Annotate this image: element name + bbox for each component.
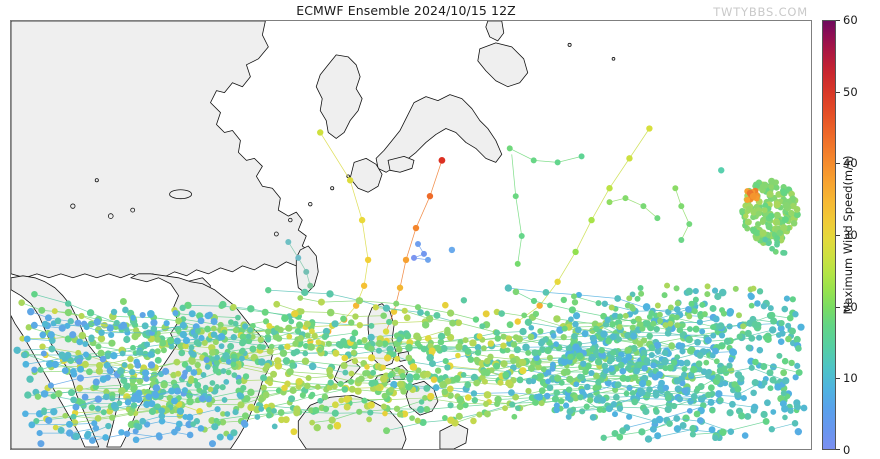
track-point bbox=[754, 230, 761, 237]
track-point bbox=[531, 298, 537, 304]
track-point bbox=[35, 393, 41, 399]
track-point bbox=[388, 387, 394, 393]
track-point bbox=[317, 347, 323, 353]
track-point bbox=[265, 287, 271, 293]
track-point bbox=[471, 390, 477, 396]
map-axes bbox=[10, 20, 812, 450]
track-point bbox=[657, 312, 663, 318]
track-point bbox=[329, 417, 336, 424]
track-point bbox=[231, 372, 237, 378]
track-point bbox=[769, 246, 775, 252]
track-point bbox=[182, 387, 188, 393]
track-point bbox=[690, 366, 697, 373]
track-point bbox=[415, 418, 421, 424]
track-point bbox=[576, 352, 583, 359]
track-point bbox=[568, 316, 574, 322]
track-markers bbox=[383, 157, 445, 335]
track-point bbox=[22, 410, 29, 417]
track-point bbox=[204, 326, 211, 333]
track-point bbox=[301, 289, 308, 296]
track-point bbox=[159, 413, 166, 420]
track-point bbox=[584, 384, 591, 391]
track-point bbox=[663, 385, 669, 391]
track-point bbox=[427, 393, 434, 400]
track-point bbox=[198, 317, 205, 324]
track-point bbox=[127, 356, 134, 363]
track-point bbox=[209, 440, 216, 447]
track-point bbox=[465, 394, 472, 401]
track-point bbox=[610, 350, 616, 356]
track-point bbox=[674, 285, 680, 291]
track-point bbox=[100, 376, 107, 383]
track-point bbox=[693, 288, 699, 294]
track-point bbox=[665, 406, 672, 413]
track-point bbox=[739, 208, 745, 214]
track-point bbox=[201, 372, 207, 378]
track-point bbox=[442, 302, 449, 309]
track-point bbox=[53, 425, 59, 431]
track-point bbox=[675, 300, 681, 306]
track-point bbox=[233, 327, 239, 333]
track-point bbox=[433, 385, 439, 391]
track-point bbox=[665, 394, 672, 401]
track-point bbox=[247, 404, 255, 412]
track-point bbox=[763, 418, 770, 425]
track-point bbox=[500, 342, 506, 348]
track-point bbox=[457, 403, 464, 410]
track-point bbox=[148, 400, 155, 407]
track-point bbox=[567, 408, 574, 415]
track-point bbox=[442, 415, 448, 421]
track-point bbox=[682, 366, 688, 372]
track-point bbox=[693, 297, 699, 303]
track-point bbox=[795, 404, 801, 410]
track-point bbox=[247, 305, 254, 312]
track-point bbox=[410, 363, 418, 371]
track-point bbox=[327, 309, 335, 317]
track-point bbox=[293, 409, 300, 416]
track-point bbox=[180, 331, 187, 338]
track-point bbox=[737, 333, 743, 339]
track-point bbox=[789, 328, 796, 335]
track-point bbox=[709, 426, 716, 433]
track-point bbox=[614, 295, 621, 302]
track-point bbox=[649, 345, 656, 352]
track-point bbox=[120, 298, 127, 305]
track-point bbox=[766, 240, 772, 246]
track-point bbox=[774, 212, 781, 219]
track-point bbox=[801, 405, 808, 412]
track-point bbox=[265, 328, 271, 334]
track-point bbox=[392, 320, 398, 326]
track-point bbox=[770, 376, 777, 383]
track-point bbox=[291, 428, 298, 435]
track-point bbox=[111, 309, 117, 315]
track-point bbox=[375, 385, 381, 391]
track-point bbox=[770, 409, 776, 415]
track-point bbox=[689, 425, 696, 432]
track-point bbox=[65, 300, 71, 306]
track-point bbox=[588, 370, 594, 376]
track-point bbox=[685, 288, 693, 296]
track-point bbox=[453, 375, 460, 382]
track-point bbox=[222, 352, 229, 359]
track-point bbox=[62, 413, 68, 419]
track-point bbox=[118, 429, 124, 435]
colorbar-axis-label: Maximum Wind Speed(m/s) bbox=[841, 156, 855, 315]
track-point bbox=[367, 409, 373, 415]
track-point bbox=[307, 343, 315, 351]
chart-figure: ECMWF Ensemble 2024/10/15 12Z TWTYBBS.CO… bbox=[0, 0, 880, 459]
track-point bbox=[317, 398, 323, 404]
track-point bbox=[133, 436, 140, 443]
track-point bbox=[380, 375, 387, 382]
track-point bbox=[68, 318, 74, 324]
track-point bbox=[662, 292, 668, 298]
small-island bbox=[170, 190, 192, 199]
track-point bbox=[604, 317, 611, 324]
track-point bbox=[572, 299, 578, 305]
track-point bbox=[232, 409, 238, 415]
track-point bbox=[673, 415, 680, 422]
track-point bbox=[315, 384, 321, 390]
track-point bbox=[505, 347, 511, 353]
track-point bbox=[309, 363, 317, 371]
track-point bbox=[150, 319, 157, 326]
track-point bbox=[528, 365, 535, 372]
track-point bbox=[776, 353, 782, 359]
track-point bbox=[602, 301, 608, 307]
track-point bbox=[563, 402, 569, 408]
track-point bbox=[539, 400, 545, 406]
colorbar-tick bbox=[836, 235, 840, 236]
track-point bbox=[94, 318, 101, 325]
track-point bbox=[449, 320, 456, 327]
colorbar-tick-label: 50 bbox=[843, 85, 858, 99]
track-point bbox=[767, 191, 774, 198]
track-point bbox=[749, 365, 755, 371]
track-point bbox=[382, 411, 388, 417]
track-point bbox=[650, 426, 657, 433]
track-point bbox=[286, 368, 293, 375]
track-point bbox=[306, 375, 312, 381]
track-point bbox=[595, 359, 602, 366]
track-point bbox=[210, 380, 216, 386]
track-point bbox=[687, 408, 693, 414]
track-point bbox=[48, 345, 55, 352]
track-point bbox=[109, 415, 115, 421]
track-point bbox=[125, 399, 132, 406]
colorbar-tick bbox=[836, 449, 840, 450]
track-point bbox=[87, 309, 94, 316]
track-point bbox=[350, 336, 356, 342]
track-point bbox=[664, 283, 670, 289]
track-point bbox=[151, 325, 158, 332]
track-point bbox=[552, 395, 559, 402]
track-point bbox=[129, 376, 137, 384]
colorbar-tick bbox=[836, 20, 840, 21]
track-point bbox=[519, 367, 526, 374]
track-point bbox=[754, 300, 761, 307]
track-point bbox=[388, 372, 394, 378]
track-point bbox=[88, 336, 94, 342]
track-point bbox=[228, 319, 234, 325]
track-point bbox=[637, 321, 643, 327]
track-point bbox=[516, 335, 523, 342]
track-point bbox=[705, 373, 711, 379]
track-point bbox=[447, 417, 454, 424]
track-point bbox=[483, 310, 490, 317]
track-point bbox=[577, 394, 583, 400]
track-point bbox=[750, 390, 757, 397]
track-point bbox=[782, 358, 789, 365]
track-point bbox=[186, 414, 193, 421]
track-point bbox=[511, 414, 517, 420]
track-point bbox=[617, 405, 623, 411]
track-point bbox=[465, 348, 472, 355]
track-point bbox=[235, 315, 241, 321]
track-point bbox=[666, 420, 673, 427]
track-point bbox=[468, 356, 475, 363]
track-point bbox=[211, 423, 218, 430]
track-point bbox=[356, 409, 362, 415]
track-point bbox=[332, 401, 339, 408]
track-point bbox=[611, 401, 617, 407]
track-point bbox=[314, 424, 321, 431]
track-point bbox=[721, 311, 727, 317]
track-point bbox=[286, 334, 292, 340]
track-point bbox=[368, 346, 374, 352]
track-point bbox=[240, 348, 246, 354]
track-point bbox=[674, 377, 681, 384]
track-point bbox=[101, 409, 107, 415]
track-point bbox=[646, 333, 653, 340]
track-point bbox=[161, 347, 167, 353]
track-point bbox=[650, 321, 656, 327]
track-point bbox=[769, 326, 776, 333]
track-point bbox=[218, 333, 225, 340]
track-point bbox=[226, 369, 232, 375]
track-point bbox=[545, 379, 551, 385]
track-point bbox=[736, 312, 742, 318]
track-point bbox=[39, 332, 46, 339]
track-point bbox=[571, 293, 577, 299]
track-point bbox=[519, 359, 526, 366]
track-point bbox=[762, 207, 768, 213]
track-line bbox=[510, 148, 582, 162]
track-point bbox=[424, 311, 430, 317]
track-point bbox=[130, 385, 137, 392]
track-point bbox=[615, 381, 622, 388]
track-point bbox=[653, 326, 659, 332]
track-point bbox=[793, 374, 799, 380]
track-point bbox=[50, 408, 57, 415]
track-point bbox=[680, 422, 687, 429]
track-point bbox=[368, 401, 375, 408]
track-point bbox=[525, 350, 531, 356]
track-point bbox=[355, 388, 362, 395]
track-point bbox=[644, 357, 651, 364]
track-point bbox=[641, 365, 648, 372]
track-point bbox=[82, 394, 89, 401]
track-point bbox=[219, 301, 226, 308]
track-point bbox=[364, 364, 370, 370]
track-point bbox=[66, 421, 73, 428]
track-point bbox=[730, 349, 737, 356]
track-point bbox=[48, 331, 55, 338]
track-point bbox=[748, 335, 755, 342]
track-point bbox=[756, 335, 762, 341]
track-point bbox=[662, 350, 668, 356]
track-point bbox=[704, 291, 710, 297]
track-point bbox=[413, 373, 420, 380]
track-point bbox=[608, 356, 615, 363]
track-point bbox=[285, 325, 292, 332]
track-point bbox=[209, 349, 216, 356]
track-point bbox=[294, 348, 300, 354]
track-point bbox=[122, 362, 128, 368]
track-point bbox=[784, 296, 790, 302]
track-point bbox=[83, 351, 89, 357]
track-point bbox=[590, 414, 597, 421]
track-point bbox=[376, 340, 383, 347]
track-line bbox=[512, 154, 522, 263]
track-point bbox=[692, 308, 698, 314]
track-point bbox=[624, 347, 631, 354]
track-point bbox=[66, 429, 73, 436]
track-point bbox=[291, 310, 298, 317]
track-point bbox=[45, 417, 52, 424]
track-point bbox=[278, 409, 285, 416]
track-point bbox=[70, 368, 77, 375]
track-point bbox=[100, 356, 107, 363]
track-point bbox=[652, 418, 658, 424]
track-point bbox=[323, 406, 329, 412]
track-point bbox=[575, 326, 582, 333]
track-point bbox=[653, 408, 659, 414]
track-point bbox=[448, 402, 454, 408]
track-point bbox=[744, 413, 751, 420]
track-point bbox=[340, 338, 347, 345]
track-point bbox=[421, 346, 428, 353]
track-point bbox=[222, 397, 228, 403]
track-point bbox=[507, 321, 514, 328]
track-point bbox=[304, 321, 311, 328]
track-point bbox=[509, 401, 515, 407]
track-point bbox=[553, 315, 560, 322]
track-point bbox=[519, 328, 526, 335]
track-point bbox=[109, 395, 115, 401]
track-point bbox=[561, 334, 567, 340]
track-point bbox=[662, 322, 668, 328]
track-point bbox=[750, 193, 757, 200]
track-point bbox=[698, 314, 704, 320]
track-point bbox=[331, 320, 338, 327]
track-point bbox=[785, 336, 792, 343]
track-point bbox=[447, 310, 454, 317]
track-point bbox=[605, 338, 612, 345]
track-point bbox=[792, 420, 799, 427]
track-point bbox=[231, 334, 237, 340]
track-point bbox=[240, 385, 246, 391]
track-point bbox=[536, 393, 543, 400]
track-point bbox=[625, 353, 632, 360]
track-point bbox=[699, 302, 705, 308]
track-point bbox=[783, 202, 790, 209]
track-point bbox=[302, 358, 309, 365]
track-point bbox=[98, 329, 105, 336]
track-point bbox=[686, 336, 693, 343]
track-point bbox=[704, 337, 711, 344]
track-point bbox=[72, 404, 79, 411]
track-point bbox=[671, 403, 677, 409]
track-point bbox=[177, 408, 184, 415]
track-point bbox=[794, 363, 800, 369]
track-point bbox=[648, 310, 654, 316]
track-point bbox=[352, 358, 358, 364]
track-point bbox=[439, 381, 446, 388]
track-point bbox=[247, 389, 254, 396]
track-point bbox=[618, 362, 625, 369]
track-point bbox=[551, 333, 557, 339]
track-point bbox=[142, 322, 149, 329]
track-point bbox=[566, 376, 573, 383]
colorbar-tick-label: 0 bbox=[843, 443, 850, 457]
track-point bbox=[561, 359, 568, 366]
track-point bbox=[355, 377, 361, 383]
track-point bbox=[288, 395, 295, 402]
track-point bbox=[296, 378, 303, 385]
track-point bbox=[589, 346, 595, 352]
track-point bbox=[246, 333, 252, 339]
track-point bbox=[127, 363, 133, 369]
track-point bbox=[781, 405, 788, 412]
track-point bbox=[271, 408, 277, 414]
track-point bbox=[380, 365, 386, 371]
small-island bbox=[131, 208, 135, 212]
track-point bbox=[213, 367, 219, 373]
track-point bbox=[261, 385, 267, 391]
track-point bbox=[774, 201, 781, 208]
track-point bbox=[413, 332, 421, 340]
track-point bbox=[513, 289, 520, 296]
track-point bbox=[750, 407, 757, 414]
track-point bbox=[695, 385, 701, 391]
track-point bbox=[656, 371, 663, 378]
track-point bbox=[135, 423, 142, 430]
track-point bbox=[343, 396, 350, 403]
track-point bbox=[340, 362, 347, 369]
track-point bbox=[735, 386, 742, 393]
track-point bbox=[135, 396, 142, 403]
track-point bbox=[638, 285, 644, 291]
track-point bbox=[351, 330, 358, 337]
track-point bbox=[297, 335, 304, 342]
track-point bbox=[241, 420, 248, 427]
track-point bbox=[148, 361, 155, 368]
track-point bbox=[686, 313, 692, 319]
track-point bbox=[637, 340, 644, 347]
track-point bbox=[625, 365, 631, 371]
track-point bbox=[48, 382, 54, 388]
track-point bbox=[435, 367, 441, 373]
track-point bbox=[107, 367, 114, 374]
track-point bbox=[71, 414, 77, 420]
east-pacific-cluster bbox=[739, 178, 801, 256]
track-point bbox=[455, 319, 462, 326]
track-point bbox=[68, 389, 75, 396]
track-point bbox=[230, 429, 237, 436]
